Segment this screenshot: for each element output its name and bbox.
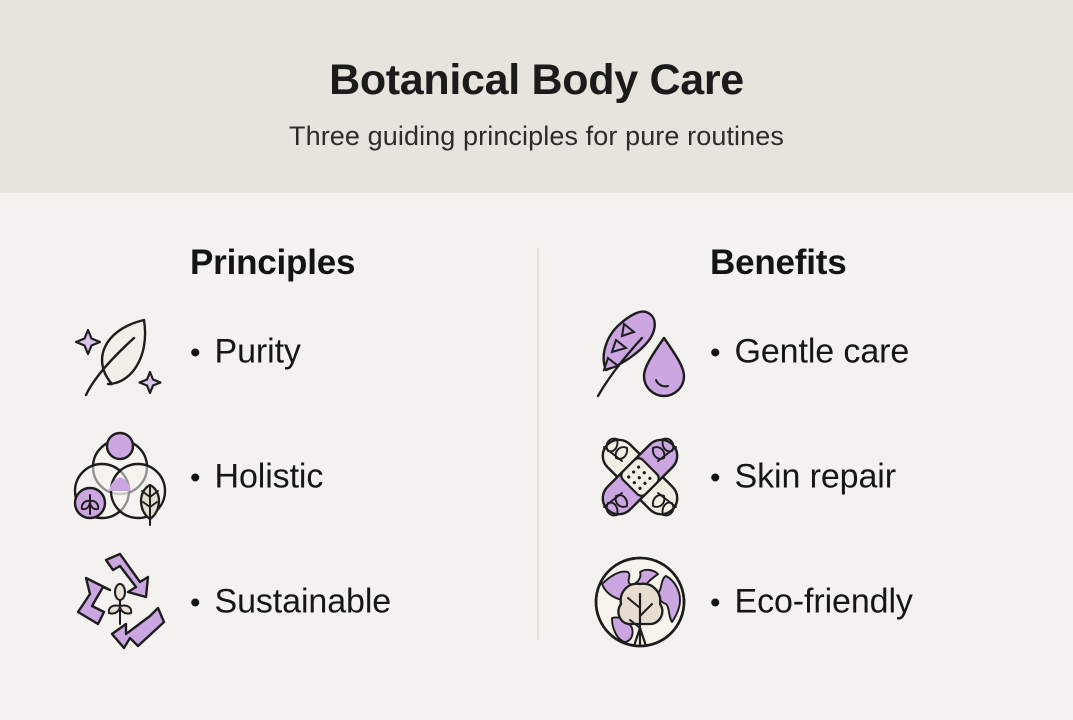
crossed-bandages-leaf-icon xyxy=(588,425,692,529)
principles-list: • Purity xyxy=(38,289,538,664)
poster: Botanical Body Care Three guiding princi… xyxy=(0,0,1073,720)
page-title: Botanical Body Care xyxy=(329,0,744,103)
bullet-icon: • xyxy=(190,588,201,618)
list-item-text: • Purity xyxy=(190,332,301,371)
list-item-label: Skin repair xyxy=(735,457,896,496)
bullet-icon: • xyxy=(190,463,201,493)
bullet-icon: • xyxy=(190,338,201,368)
list-item-text: • Eco-friendly xyxy=(710,582,913,621)
list-item-label: Sustainable xyxy=(215,582,392,621)
recycle-plant-icon xyxy=(68,550,172,654)
list-item[interactable]: • Sustainable xyxy=(38,539,538,664)
list-item[interactable]: • Holistic xyxy=(38,414,538,539)
list-item-label: Eco-friendly xyxy=(735,582,913,621)
bullet-icon: • xyxy=(710,463,721,493)
header-band: Botanical Body Care Three guiding princi… xyxy=(0,0,1073,193)
page-subtitle: Three guiding principles for pure routin… xyxy=(289,103,784,152)
sparkle-leaf-icon xyxy=(68,300,172,404)
feather-droplet-icon xyxy=(588,300,692,404)
bullet-icon: • xyxy=(710,338,721,368)
list-item-label: Holistic xyxy=(215,457,324,496)
list-item[interactable]: • Purity xyxy=(38,289,538,414)
list-item-label: Gentle care xyxy=(735,332,910,371)
content-columns: Principles • Purity xyxy=(0,193,1073,720)
list-item-text: • Skin repair xyxy=(710,457,896,496)
list-item-text: • Holistic xyxy=(190,457,323,496)
globe-tree-icon xyxy=(588,550,692,654)
list-item[interactable]: • Gentle care xyxy=(558,289,1058,414)
column-benefits: Benefits • Gentle care xyxy=(558,193,1058,720)
list-item-label: Purity xyxy=(215,332,301,371)
benefits-list: • Gentle care xyxy=(558,289,1058,664)
list-item[interactable]: • Skin repair xyxy=(558,414,1058,539)
bullet-icon: • xyxy=(710,588,721,618)
list-item-text: • Gentle care xyxy=(710,332,909,371)
column-principles: Principles • Purity xyxy=(38,193,538,720)
venn-circles-plants-icon xyxy=(68,425,172,529)
column-title-principles: Principles xyxy=(190,243,355,283)
list-item-text: • Sustainable xyxy=(190,582,391,621)
list-item[interactable]: • Eco-friendly xyxy=(558,539,1058,664)
column-title-benefits: Benefits xyxy=(710,243,847,283)
